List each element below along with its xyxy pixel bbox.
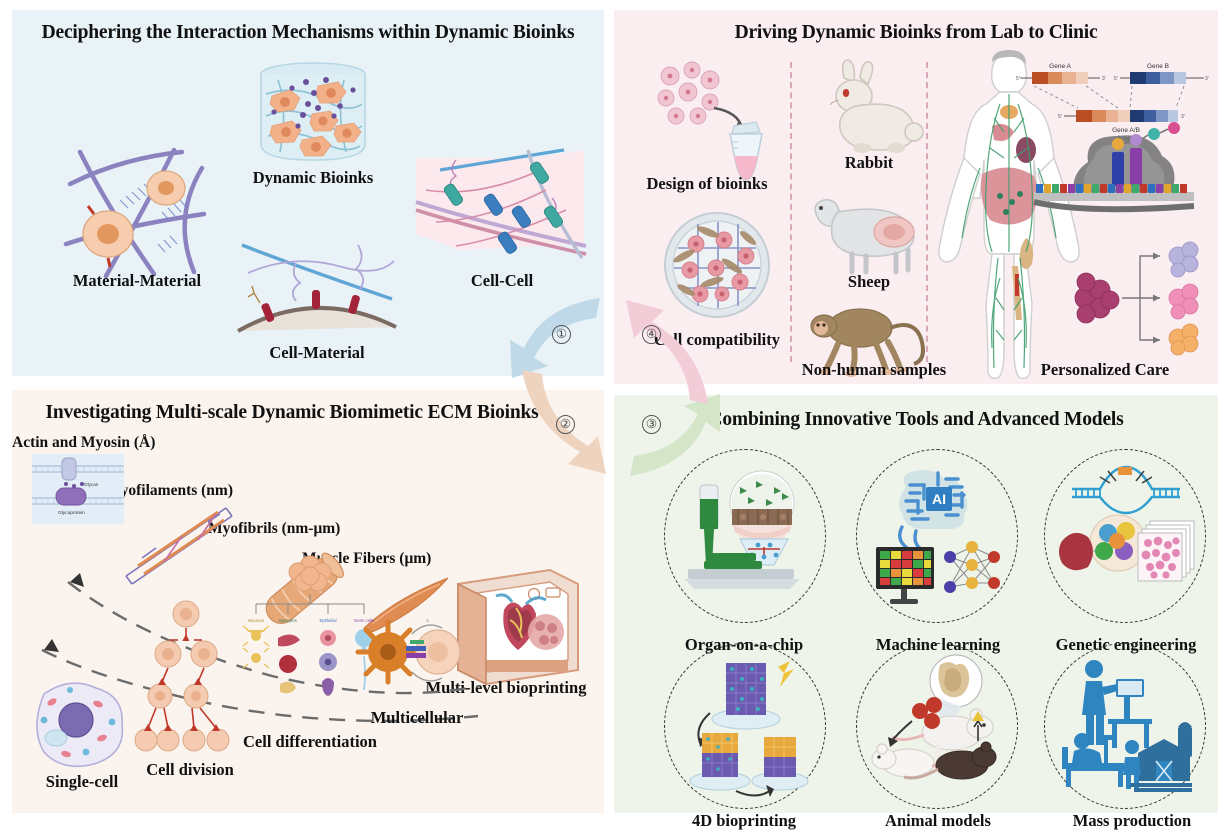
sheep-illustration <box>804 186 928 278</box>
dynamic-bioinks-illustration <box>248 60 378 166</box>
label-personalized-care: Personalized Care <box>1010 360 1200 380</box>
organ-on-a-chip-icon <box>678 469 812 603</box>
cycle-number-3-glyph: ③ <box>642 415 661 434</box>
label-material-material: Material-Material <box>42 271 232 291</box>
scale-label-actin-myosin: Actin and Myosin (Å) <box>12 434 212 452</box>
svg-text:3': 3' <box>1102 76 1106 82</box>
label-animal-models: Animal models <box>854 811 1022 831</box>
cycle-number-1: ① <box>552 322 571 344</box>
svg-text:a: a <box>426 618 429 624</box>
label-rabbit: Rabbit <box>814 153 924 173</box>
cycle-number-4-glyph: ④ <box>642 325 661 344</box>
cycle-number-3: ③ <box>642 412 661 434</box>
label-cell-division: Cell division <box>120 760 260 780</box>
single-cell-illustration <box>26 676 134 772</box>
arrow-3-green <box>630 394 720 476</box>
label-sheep: Sheep <box>814 272 924 292</box>
svg-text:AI: AI <box>932 491 946 507</box>
label-cell-cell: Cell-Cell <box>432 271 572 291</box>
dna-crispr-icon <box>1054 463 1198 613</box>
label-cell-differentiation: Cell differentiation <box>212 732 408 752</box>
svg-text:Epithelial: Epithelial <box>320 618 337 623</box>
personalized-care-differentiation-illustration <box>1066 242 1206 352</box>
design-of-bioinks-illustration <box>652 60 782 185</box>
label-dynamic-bioinks: Dynamic Bioinks <box>233 168 393 188</box>
mouse-model-icon <box>868 651 1010 797</box>
svg-text:Myocytes: Myocytes <box>279 618 297 623</box>
cycle-number-1-glyph: ① <box>552 325 571 344</box>
cycle-number-2-glyph: ② <box>556 415 575 434</box>
panel-top-left-title: Deciphering the Interaction Mechanisms w… <box>12 22 604 44</box>
svg-text:3': 3' <box>1205 76 1209 82</box>
cell-material-illustration <box>238 233 396 338</box>
label-design-of-bioinks: Design of bioinks <box>632 174 782 194</box>
cell-cell-illustration <box>416 150 586 280</box>
gene-a-label: Gene A <box>1049 63 1071 70</box>
material-material-illustration <box>62 148 212 280</box>
shape-morphing-construct-icon <box>680 653 812 799</box>
protein-dna-complex-illustration <box>1026 122 1206 216</box>
cycle-number-4: ④ <box>642 322 661 344</box>
label-cell-material: Cell-Material <box>237 343 397 363</box>
clinic-factory-icon <box>1060 657 1196 797</box>
label-4d-bioprinting: 4D bioprinting <box>662 811 826 831</box>
svg-text:5': 5' <box>1114 76 1118 82</box>
gene-b-label: Gene B <box>1147 63 1169 70</box>
svg-text:5': 5' <box>1058 114 1062 120</box>
glycan-label: Glycan <box>84 482 99 487</box>
svg-text:3': 3' <box>1181 114 1185 120</box>
svg-text:Neurons: Neurons <box>248 618 264 623</box>
svg-text:b: b <box>426 686 429 692</box>
label-mass-production: Mass production <box>1042 811 1222 831</box>
svg-text:5': 5' <box>1016 76 1020 82</box>
multicellular-illustration: ab <box>354 610 466 694</box>
panel-bottom-left-title: Investigating Multi-scale Dynamic Biomim… <box>12 402 572 424</box>
cycle-number-2: ② <box>556 412 575 434</box>
ai-brain-neural-network-icon: AI <box>872 465 1004 609</box>
rabbit-illustration <box>810 58 926 158</box>
arrow-4-pink <box>626 300 708 404</box>
divider-1 <box>790 62 792 362</box>
label-multicellular: Multicellular <box>342 708 492 728</box>
cycle-arrows: ① ② ③ ④ <box>508 292 726 484</box>
panel-top-right-title: Driving Dynamic Bioinks from Lab to Clin… <box>614 22 1218 44</box>
